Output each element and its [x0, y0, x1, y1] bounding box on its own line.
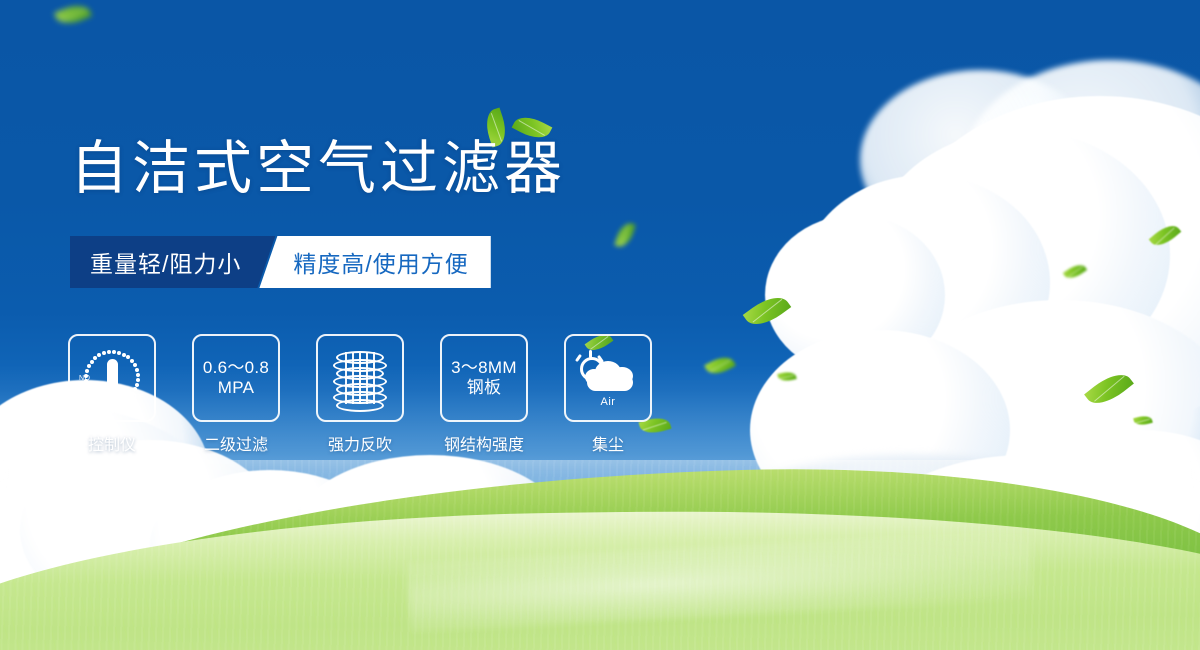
feature-box	[316, 334, 404, 422]
gauge-dial-dot	[84, 374, 88, 378]
gauge-dial-dot	[102, 351, 106, 355]
feature-item-control-gauge[interactable]: NO OFF 控制仪	[70, 334, 154, 455]
cloud-air-icon: Air	[577, 353, 639, 403]
gauge-dial-dot	[131, 392, 135, 396]
sun-ray	[589, 350, 592, 358]
feature-box: 0.6～0.8 MPA	[192, 334, 280, 422]
cartridge-rib	[359, 352, 361, 404]
gauge-dial-dot	[135, 368, 139, 372]
gauge-dial-dot	[123, 398, 127, 402]
feature-label: 控制仪	[88, 431, 136, 455]
gauge-dial-dot	[112, 350, 116, 354]
gauge-dial-dot	[114, 402, 118, 406]
gauge-dial-dot	[98, 399, 102, 403]
gauge-dial-dot	[107, 350, 111, 354]
feature-item-dust-collection[interactable]: Air 集尘	[566, 334, 650, 455]
gauge-dial-dot	[135, 383, 139, 387]
cloud-base	[587, 374, 633, 391]
feature-box: Air	[564, 334, 652, 422]
sun-ray	[575, 354, 582, 362]
feature-label: 强力反吹	[328, 431, 392, 455]
gauge-icon: NO OFF	[81, 347, 143, 409]
gauge-dial-dot	[84, 379, 88, 383]
pressure-unit: MPA	[218, 378, 254, 398]
feature-box: NO OFF	[68, 334, 156, 422]
promo-banner: 自洁式空气过滤器 重量轻/阻力小 精度高/使用方便 NO OFF 控制仪 0.6…	[0, 0, 1200, 650]
cartridge-rib	[352, 352, 354, 404]
gauge-dial-dot	[119, 401, 123, 405]
feature-box: 3～8MM 钢板	[440, 334, 528, 422]
gauge-dial-dot	[133, 387, 137, 391]
gauge-dial-dot	[85, 369, 89, 373]
gauge-needle	[107, 359, 118, 399]
subtitle-bar: 重量轻/阻力小 精度高/使用方便	[70, 236, 491, 288]
filter-cartridge-icon	[332, 349, 388, 407]
feature-item-reverse-blow[interactable]: 强力反吹	[318, 334, 402, 455]
cartridge-rib	[345, 352, 347, 404]
gauge-dial-dot	[90, 393, 94, 397]
gauge-dial-dot	[136, 378, 140, 382]
gauge-dial-dot	[94, 396, 98, 400]
cartridge-rib	[373, 352, 375, 404]
gauge-dial-dot	[93, 356, 97, 360]
steel-material: 钢板	[467, 378, 502, 398]
gauge-dial-dot	[87, 388, 91, 392]
gauge-dial-dot	[90, 360, 94, 364]
feature-list: NO OFF 控制仪 0.6～0.8 MPA 二级过滤 强力反吹	[70, 334, 650, 455]
meadow-foreground	[0, 460, 1200, 650]
feature-item-steel-strength[interactable]: 3～8MM 钢板 钢结构强度	[442, 334, 526, 455]
headline-block: 自洁式空气过滤器	[70, 140, 566, 198]
gauge-dial-dot	[136, 373, 140, 377]
grass-texture	[0, 460, 1200, 650]
cartridge-rib	[366, 352, 368, 404]
gauge-dial-dot	[117, 351, 121, 355]
steel-thickness: 3～8MM	[451, 358, 517, 378]
gauge-dial-dot	[87, 364, 91, 368]
gauge-dial-dot	[133, 363, 137, 367]
page-title: 自洁式空气过滤器	[70, 140, 566, 198]
feature-label: 钢结构强度	[444, 431, 524, 455]
gauge-dial-dot	[97, 353, 101, 357]
subtitle-badge-left: 重量轻/阻力小	[70, 236, 275, 288]
feature-label: 集尘	[592, 431, 624, 455]
pressure-value: 0.6～0.8	[203, 358, 269, 378]
gauge-dial-dot	[85, 384, 89, 388]
feature-label: 二级过滤	[204, 431, 268, 455]
feature-item-two-stage-filter[interactable]: 0.6～0.8 MPA 二级过滤	[194, 334, 278, 455]
air-label: Air	[577, 396, 639, 408]
subtitle-badge-right: 精度高/使用方便	[259, 236, 490, 288]
